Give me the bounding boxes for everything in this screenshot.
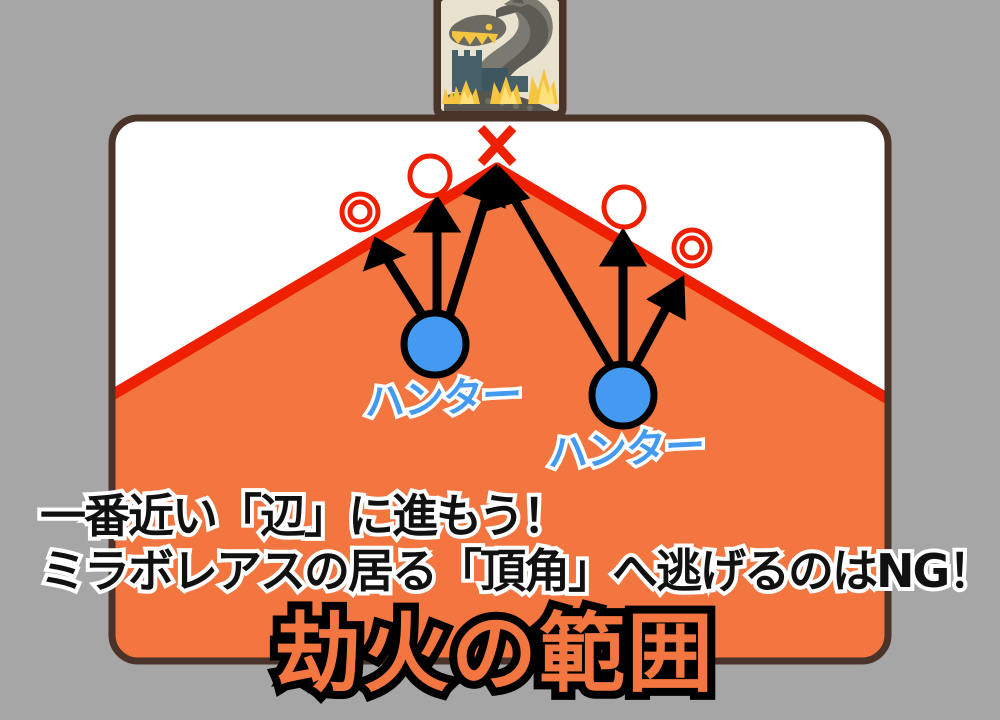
hunter-right-marker [592, 364, 654, 426]
hunter-left-marker [404, 313, 466, 375]
mirabore-as-monster-icon [437, 0, 563, 115]
diagram-panel [0, 118, 1000, 700]
diagram-canvas [0, 0, 1000, 720]
screenshot-root: ハンター ハンター 一番近い「辺」に進もう！ ミラボレアスの居る「頂角」へ逃げる… [0, 0, 1000, 720]
